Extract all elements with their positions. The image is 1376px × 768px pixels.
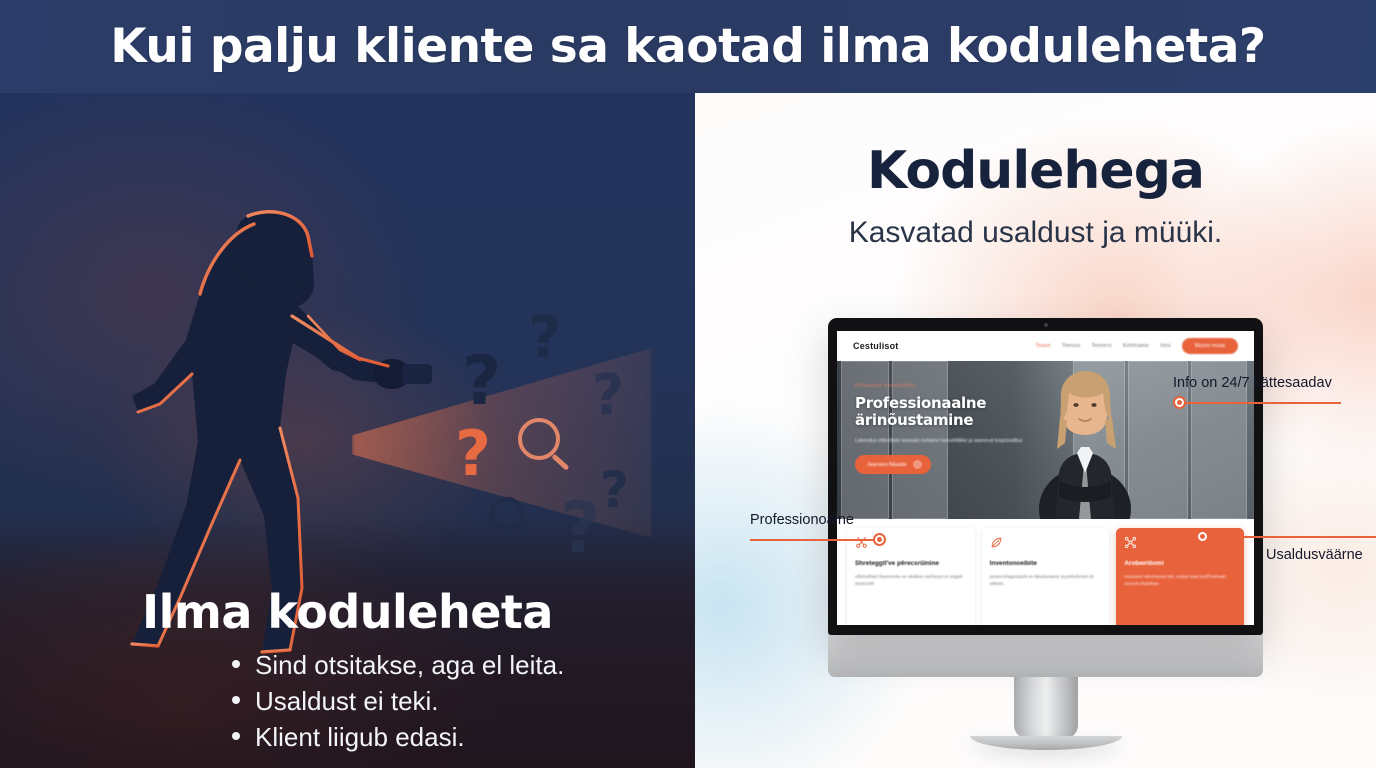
arrow-circle-icon — [913, 460, 922, 469]
list-item: Klient liigub edasi. — [230, 720, 465, 756]
header-banner: Kui palju kliente sa kaotad ilma koduleh… — [0, 0, 1376, 93]
hero-cta-button[interactable]: Jaanvara Näuada — [855, 455, 931, 474]
bullet-dot-icon — [232, 660, 240, 668]
network-icon — [1124, 536, 1137, 549]
monitor-stand-neck — [1014, 677, 1078, 739]
right-subheading: Kasvatad usaldust ja müüki. — [695, 215, 1376, 251]
website-navbar: Cestulisot Teave Teenus Teenerv Kohtname… — [837, 331, 1254, 361]
nav-cta-button[interactable]: Bizzno erusa — [1182, 338, 1238, 354]
leaf-icon — [990, 536, 1003, 549]
left-panel-without-website: ? ? ? ? ? ? Ilma koduleheta Sind otsitak… — [0, 93, 695, 768]
left-bullet-list: Sind otsitakse, aga el leita. Usaldust e… — [40, 648, 655, 756]
nav-item[interactable]: Vois — [1160, 343, 1171, 349]
question-mark-icon: ? — [592, 368, 624, 424]
left-copy-block: Ilma koduleheta Sind otsitakse, aga el l… — [0, 588, 695, 756]
callout-info-247: Info on 24/7 kättesaadav — [1173, 375, 1341, 409]
hero-title-line1: Professionaalne — [855, 395, 1045, 412]
callout-label: Info on 24/7 kättesaadav — [1173, 375, 1341, 391]
callout-dot-icon — [1173, 396, 1186, 409]
callout-line — [750, 539, 873, 541]
question-mark-icon: ? — [462, 348, 501, 416]
nav-item[interactable]: Teenus — [1062, 343, 1081, 349]
feature-card-text: viifuhvithiek finamereke ee ekailtoe nie… — [855, 573, 967, 588]
website-feature-cards: Shreteggtl've pêrecsrüinine viifuhvithie… — [837, 519, 1254, 625]
callout-dot-icon — [1196, 530, 1209, 543]
nav-item[interactable]: Kohtname — [1123, 343, 1149, 349]
feature-card-text: trunuanni nilonhoniee kät, evalan kaat s… — [1124, 573, 1236, 588]
right-panel-with-website: Kodulehega Kasvatad usaldust ja müüki. C… — [695, 93, 1376, 768]
infographic-slide: Kui palju kliente sa kaotad ilma koduleh… — [0, 0, 1376, 768]
question-mark-icon: ? — [560, 493, 601, 563]
nav-menu: Teave Teenus Teenerv Kohtname Vois Bizzn… — [1035, 338, 1238, 354]
hero-eyebrow: Ettevatus heevitahtur — [855, 383, 1045, 389]
feature-card-title: Shreteggtl've pêrecsrüinine — [855, 560, 967, 569]
question-mark-icon: ? — [600, 465, 629, 515]
list-item-label: Klient liigub edasi. — [255, 722, 465, 752]
page-title: Kui palju kliente sa kaotad ilma koduleh… — [110, 23, 1265, 70]
list-item: Usaldust ei teki. — [230, 684, 439, 720]
monitor-bezel: Cestulisot Teave Teenus Teenerv Kohtname… — [828, 318, 1263, 635]
list-item: Sind otsitakse, aga el leita. — [230, 648, 564, 684]
callout-line — [1186, 402, 1341, 404]
monitor-stand-foot — [970, 736, 1122, 750]
callout-trustworthy: Usaldusväärne — [1196, 530, 1376, 563]
nav-item[interactable]: Teave — [1035, 343, 1050, 349]
magnifier-icon — [518, 418, 560, 460]
feature-card-title: Inventonoeibite — [990, 560, 1102, 569]
callout-label: Usaldusväärne — [1196, 547, 1376, 563]
hero-copy: Ettevatus heevitahtur Professionaalne är… — [855, 383, 1045, 474]
callout-connector — [1196, 530, 1376, 543]
right-heading: Kodulehega — [695, 145, 1376, 197]
list-item-label: Sind otsitakse, aga el leita. — [255, 650, 564, 680]
left-heading: Ilma koduleheta — [40, 588, 655, 636]
callout-professional: Professionoalne — [750, 512, 886, 546]
callout-connector — [750, 533, 886, 546]
hero-title-line2: ärinõustamine — [855, 412, 1045, 429]
feature-card[interactable]: Inventonoeibite javuincchageteipeb en bb… — [982, 528, 1110, 625]
businesswoman-photo — [1033, 369, 1137, 519]
hero-cta-label: Jaanvara Näuada — [867, 462, 906, 468]
question-mark-icon: ? — [528, 308, 562, 366]
feature-card-text: javuincchageteipeb en bbeuluciaree tryom… — [990, 573, 1102, 588]
callout-label: Professionoalne — [750, 512, 886, 528]
magnifier-icon — [490, 497, 524, 531]
monitor-chin — [828, 635, 1263, 677]
nav-item[interactable]: Teenerv — [1091, 343, 1112, 349]
hero-body-text: Lahendus ettevõtete kasvuks toetame harv… — [855, 437, 1045, 445]
callout-line — [1209, 536, 1376, 538]
list-item-label: Usaldust ei teki. — [255, 686, 439, 716]
callout-connector — [1173, 396, 1341, 409]
question-mark-icon: ? — [455, 423, 491, 485]
bullet-dot-icon — [232, 696, 240, 704]
site-logo[interactable]: Cestulisot — [853, 341, 899, 351]
bullet-dot-icon — [232, 732, 240, 740]
callout-dot-icon — [873, 533, 886, 546]
webcam-icon — [1044, 323, 1048, 327]
